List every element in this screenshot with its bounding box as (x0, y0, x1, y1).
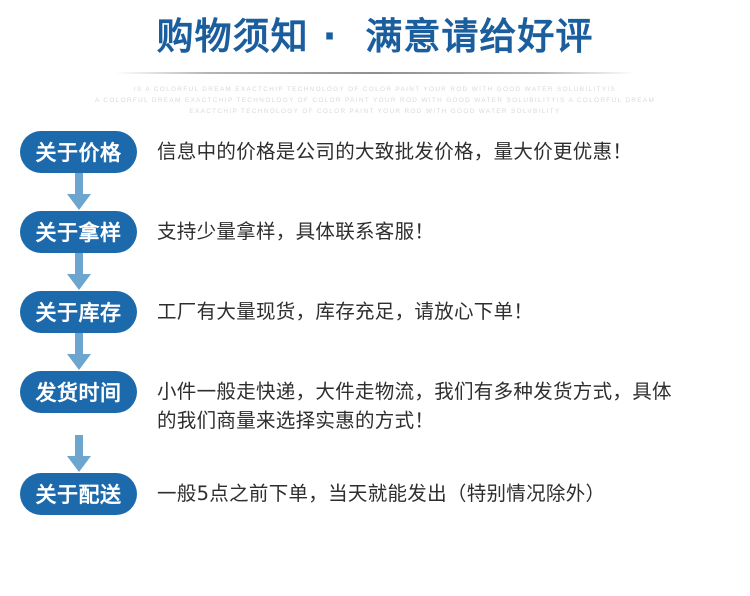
arrow-connector-1 (20, 173, 137, 211)
arrow-connector-2 (20, 253, 137, 291)
notice-text-line: 工厂有大量现货，库存充足，请放心下单！ (157, 297, 533, 326)
notice-text-line: 支持少量拿样，具体联系客服！ (157, 217, 434, 246)
notice-row-price: 关于价格 信息中的价格是公司的大致批发价格，量大价更优惠！ (0, 131, 750, 173)
notice-text-delivery: 一般5点之前下单，当天就能发出（特别情况除外） (157, 473, 605, 508)
subtitle-line-3: EXACTCHIP TECHNOLOGY OF COLOR PAINT YOUR… (95, 106, 655, 117)
subtitle-line-2: A COLORFUL DREAM EXACTCHIP TECHNOLOGY OF… (95, 95, 655, 106)
notice-text-stock: 工厂有大量现货，库存充足，请放心下单！ (157, 291, 533, 326)
arrow-down-icon (66, 173, 92, 211)
notice-text-line: 信息中的价格是公司的大致批发价格，量大价更优惠！ (157, 137, 632, 166)
notice-text-line: 小件一般走快递，大件走物流，我们有多种发货方式，具体 (157, 377, 672, 406)
title-divider (115, 72, 635, 74)
arrow-down-icon (66, 435, 92, 473)
notice-row-sample: 关于拿样 支持少量拿样，具体联系客服！ (0, 211, 750, 253)
notice-row-shipping-time: 发货时间 小件一般走快递，大件走物流，我们有多种发货方式，具体 的我们商量来选择… (0, 371, 750, 435)
badge-sample[interactable]: 关于拿样 (20, 211, 137, 253)
notice-row-stock: 关于库存 工厂有大量现货，库存充足，请放心下单！ (0, 291, 750, 333)
arrow-connector-4 (20, 435, 137, 473)
badge-shipping-time[interactable]: 发货时间 (20, 371, 137, 413)
page-header: 购物须知 · 满意请给好评 IS A COLORFUL DREAM EXACTC… (0, 0, 750, 117)
shopping-notice-flow: 关于价格 信息中的价格是公司的大致批发价格，量大价更优惠！ 关于拿样 支持少量拿… (0, 131, 750, 515)
decorative-subtitle: IS A COLORFUL DREAM EXACTCHIP TECHNOLOGY… (95, 84, 655, 117)
page-title: 购物须知 · 满意请给好评 (0, 14, 750, 60)
subtitle-line-1: IS A COLORFUL DREAM EXACTCHIP TECHNOLOGY… (95, 84, 655, 95)
arrow-connector-3 (20, 333, 137, 371)
notice-row-delivery: 关于配送 一般5点之前下单，当天就能发出（特别情况除外） (0, 473, 750, 515)
arrow-down-icon (66, 333, 92, 371)
notice-text-shipping-time: 小件一般走快递，大件走物流，我们有多种发货方式，具体 的我们商量来选择实惠的方式… (157, 371, 672, 435)
badge-price[interactable]: 关于价格 (20, 131, 137, 173)
badge-delivery[interactable]: 关于配送 (20, 473, 137, 515)
badge-stock[interactable]: 关于库存 (20, 291, 137, 333)
notice-text-price: 信息中的价格是公司的大致批发价格，量大价更优惠！ (157, 131, 632, 166)
notice-text-sample: 支持少量拿样，具体联系客服！ (157, 211, 434, 246)
arrow-down-icon (66, 253, 92, 291)
notice-text-line: 的我们商量来选择实惠的方式！ (157, 406, 672, 435)
notice-text-line: 一般5点之前下单，当天就能发出（特别情况除外） (157, 479, 605, 508)
